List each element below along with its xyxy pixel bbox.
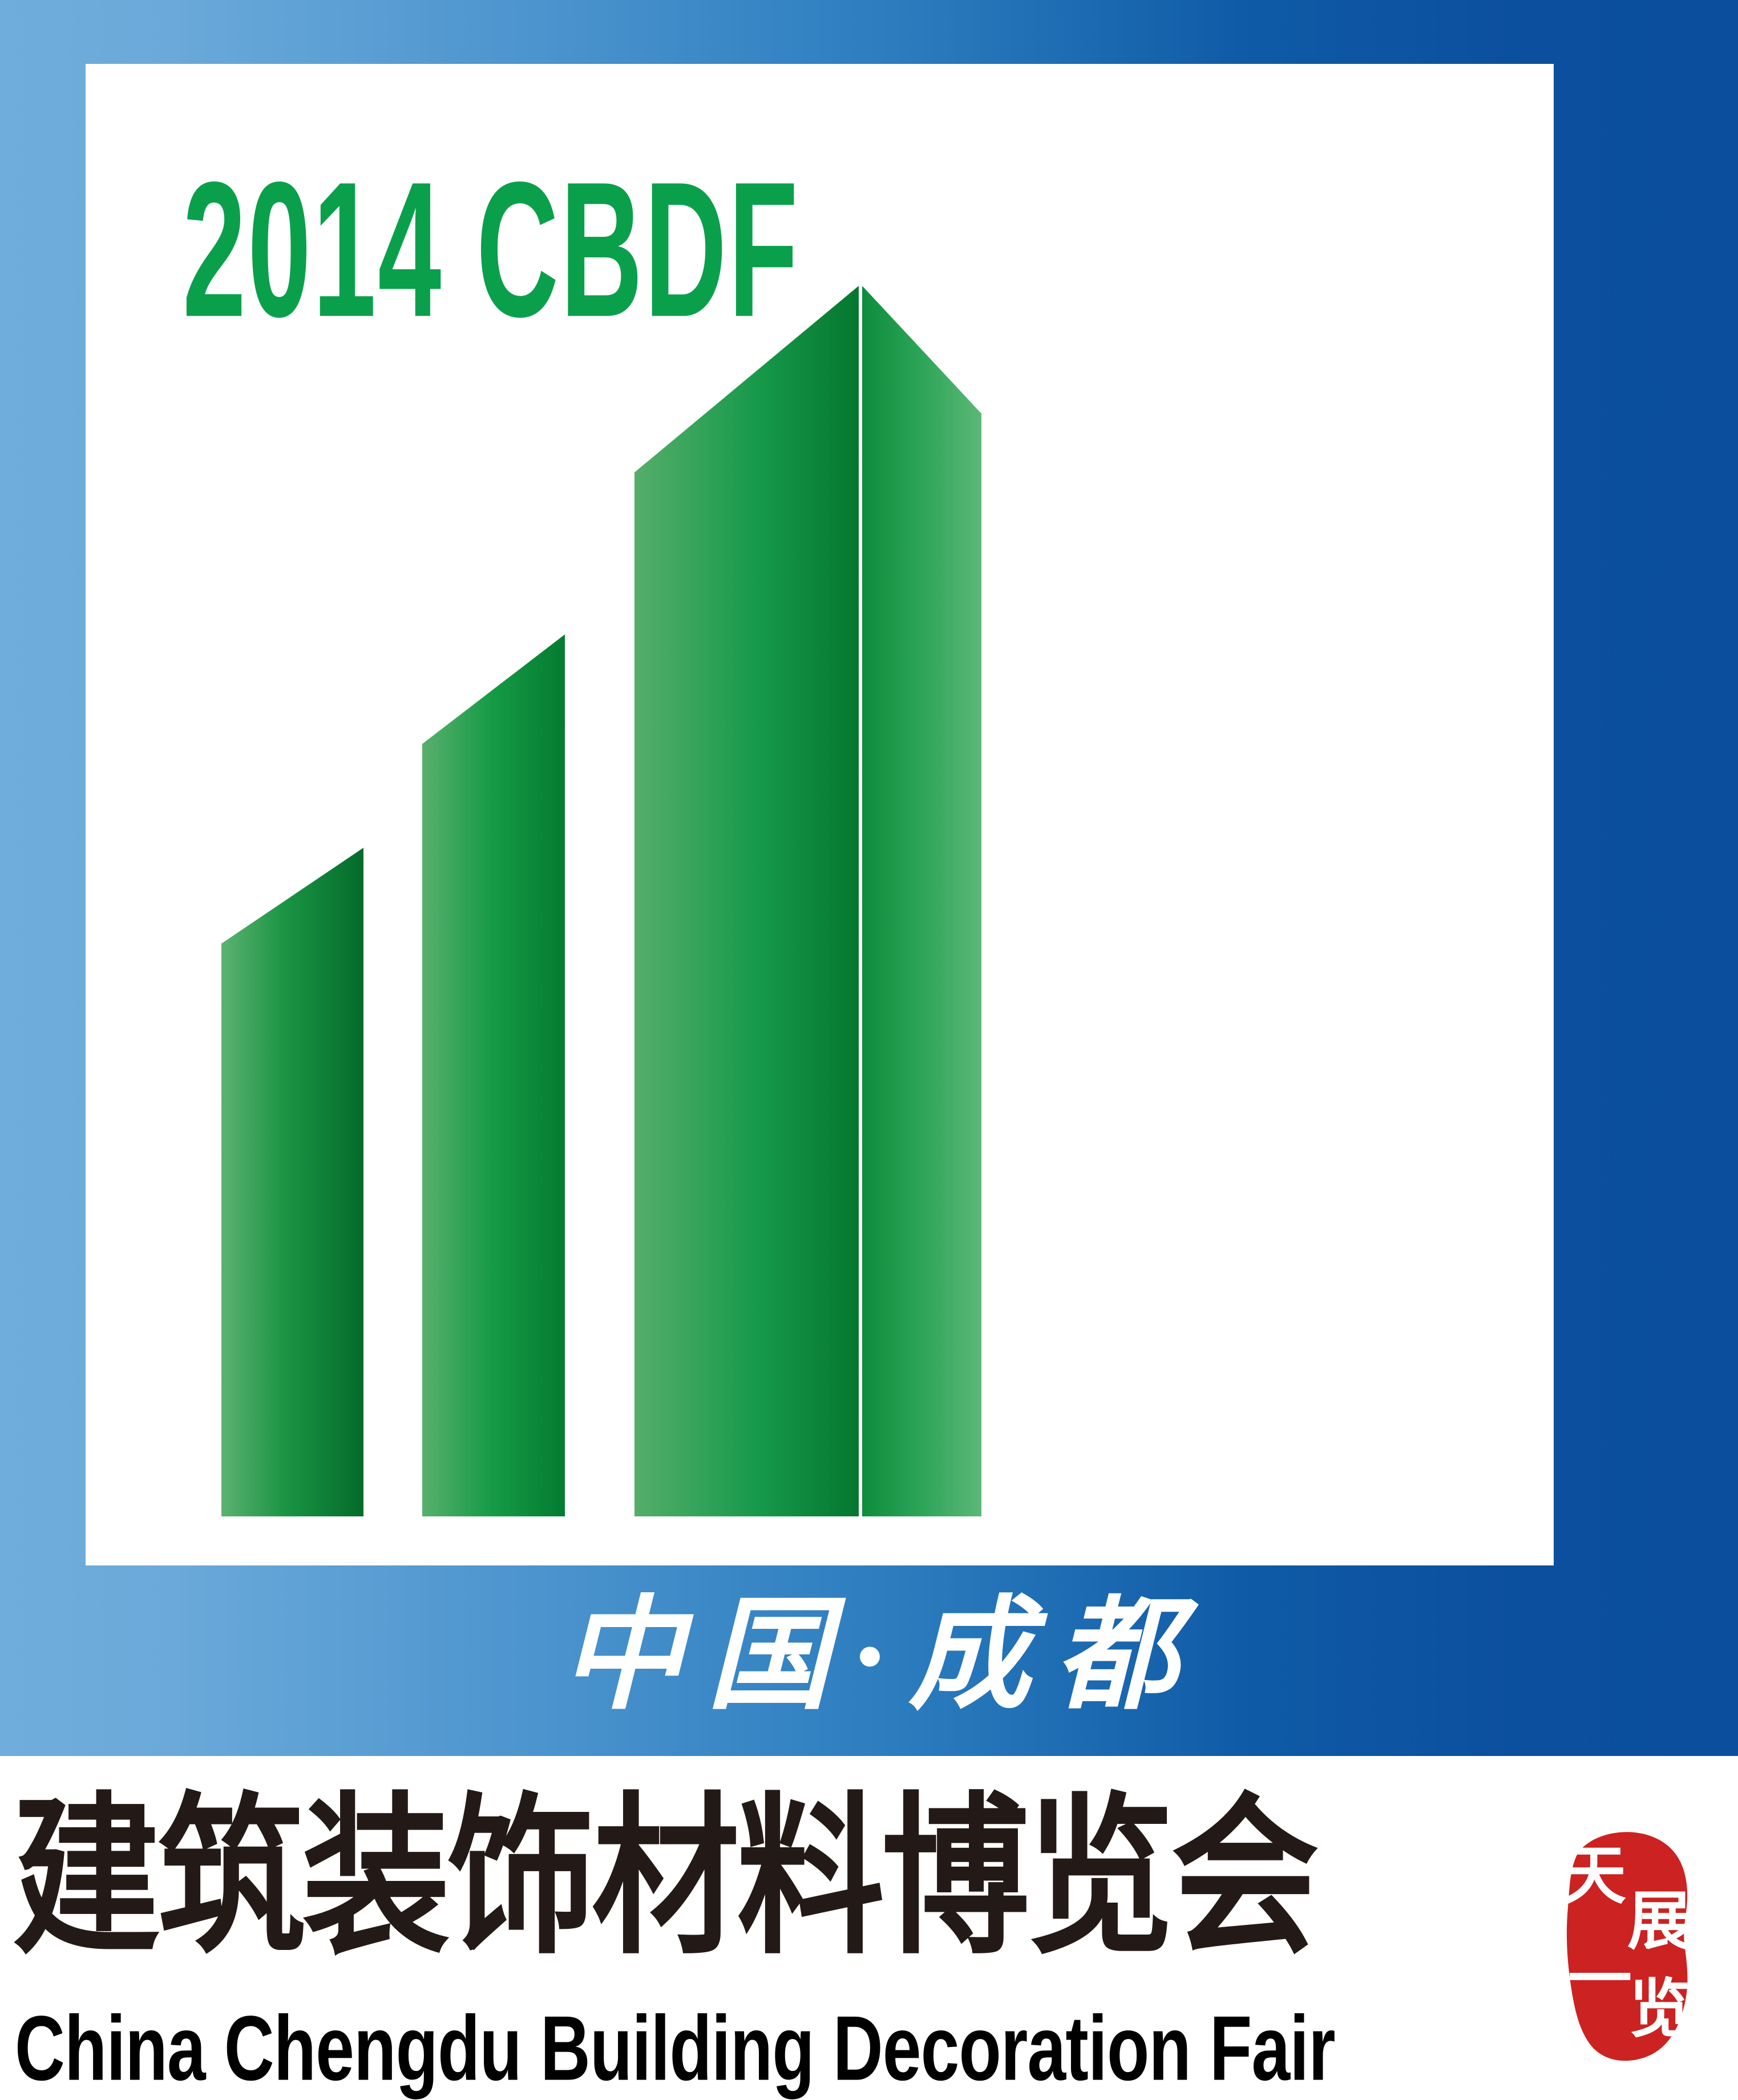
red-seal-stamp: 天 展 一 览 xyxy=(1541,1817,1712,2068)
seal-char-3: 一 xyxy=(1568,1948,1632,2012)
seal-char-2: 展 xyxy=(1627,1890,1691,1954)
bar-1 xyxy=(221,848,363,1516)
poster-top-panel: 2014 CBDF 中国·成都 xyxy=(0,0,1738,1756)
seal-char-1: 天 xyxy=(1562,1844,1626,1908)
seal-characters: 天 展 一 览 xyxy=(1541,1817,1712,2068)
location-text: 中国·成都 xyxy=(536,1595,1202,1717)
bar-3-side xyxy=(862,286,981,1516)
seal-char-4: 览 xyxy=(1629,1978,1693,2042)
page-title: 2014 CBDF xyxy=(183,154,800,347)
brand-name-chinese: 建筑装饰材料博览会 xyxy=(13,1791,1316,1964)
bar-2 xyxy=(422,634,565,1516)
location-line: 中国·成都 xyxy=(0,1570,1738,1741)
bar-3-front xyxy=(634,286,859,1516)
poster-bottom-band: 建筑装饰材料博览会 China Chengdu Building Decorat… xyxy=(0,1756,1738,2099)
brand-name-english: China Chengdu Building Decoration Fair xyxy=(15,2002,1335,2094)
